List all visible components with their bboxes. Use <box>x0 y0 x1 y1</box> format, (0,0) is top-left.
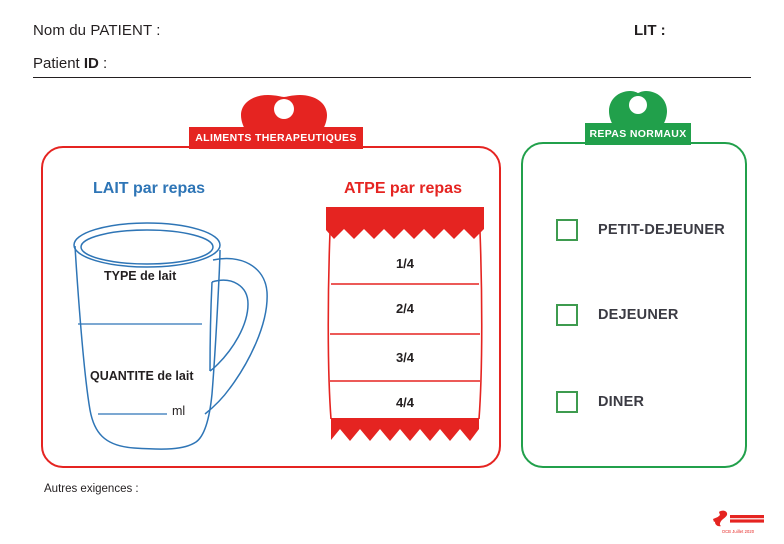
meal-row-lunch[interactable]: DEJEUNER <box>556 304 679 326</box>
rutf-fraction-quarter: 1/4 <box>322 256 488 271</box>
header-divider <box>33 77 751 78</box>
patient-header: Nom du PATIENT : LIT : Patient ID : <box>0 0 784 78</box>
checkbox-dejeuner[interactable] <box>556 304 578 326</box>
rutf-fraction-full: 4/4 <box>322 395 488 410</box>
rutf-sachet-illustration: 1/4 2/4 3/4 4/4 <box>322 205 488 454</box>
patient-name-label: Nom du PATIENT : <box>33 22 160 39</box>
msf-logo-icon <box>709 509 767 529</box>
mug-icon <box>60 214 292 456</box>
rutf-heading: ATPE par repas <box>344 180 462 198</box>
milk-unit-label: ml <box>172 404 185 418</box>
normal-meals-tab: REPAS NORMAUX <box>583 89 693 145</box>
bed-label: LIT : <box>634 22 666 39</box>
therapeutic-foods-tab-label: ALIMENTS THERAPEUTIQUES <box>183 129 369 147</box>
meal-row-dinner[interactable]: DINER <box>556 391 644 413</box>
rutf-fraction-list: 1/4 2/4 3/4 4/4 <box>322 205 488 454</box>
checkbox-petit-dejeuner[interactable] <box>556 219 578 241</box>
msf-logo-date: OCB Juillet 2020 <box>709 529 767 534</box>
rutf-fraction-half: 2/4 <box>322 301 488 316</box>
checkbox-diner[interactable] <box>556 391 578 413</box>
meal-label-dejeuner: DEJEUNER <box>598 307 679 323</box>
therapeutic-foods-tab: ALIMENTS THERAPEUTIQUES <box>183 93 369 149</box>
patient-id-strong: ID <box>84 55 99 72</box>
rutf-fraction-three-quarter: 3/4 <box>322 350 488 365</box>
other-requirements-label: Autres exigences : <box>44 483 139 495</box>
meal-label-petit-dejeuner: PETIT-DEJEUNER <box>598 222 725 238</box>
milk-heading: LAIT par repas <box>93 180 205 198</box>
milk-quantity-label: QUANTITE de lait <box>90 369 193 383</box>
meal-row-breakfast[interactable]: PETIT-DEJEUNER <box>556 219 725 241</box>
msf-logo: OCB Juillet 2020 <box>709 509 767 539</box>
milk-type-label: TYPE de lait <box>104 269 176 283</box>
patient-id-prefix: Patient <box>33 55 84 72</box>
patient-id-label: Patient ID : <box>33 55 107 72</box>
normal-meals-tab-label: REPAS NORMAUX <box>583 125 693 143</box>
milk-cup-illustration: TYPE de lait QUANTITE de lait ml <box>60 214 292 456</box>
meal-label-diner: DINER <box>598 394 644 410</box>
patient-id-suffix: : <box>99 55 107 72</box>
